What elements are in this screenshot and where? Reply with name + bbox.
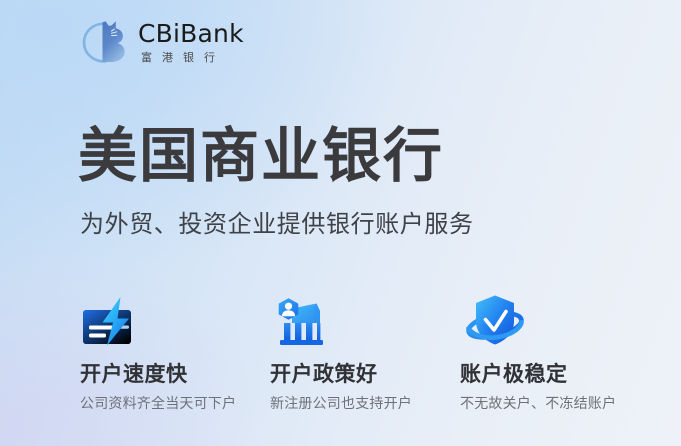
page-subtitle: 为外贸、投资企业提供银行账户服务 [80,213,474,237]
feature-title: 开户政策好 [270,364,460,385]
bank-person-icon [270,288,460,350]
brand-logo[interactable]: CBiBank 富港银行 [80,18,244,65]
feature-list: 开户速度快 公司资料齐全当天可下户 [80,288,650,410]
feature-item-stability: 账户极稳定 不无故关户、不冻结账户 [460,288,650,410]
brand-wordmark: CBiBank [138,21,244,46]
feature-title: 账户极稳定 [460,364,650,385]
feature-item-speed: 开户速度快 公司资料齐全当天可下户 [80,288,270,410]
feature-title: 开户速度快 [80,364,270,385]
promo-banner: CBiBank 富港银行 美国商业银行 为外贸、投资企业提供银行账户服务 [0,0,681,446]
feature-description: 新注册公司也支持开户 [270,396,460,410]
brand-chinese-name: 富港银行 [138,52,244,63]
shield-check-orbit-icon [460,288,650,350]
feature-item-policy: 开户政策好 新注册公司也支持开户 [270,288,460,410]
card-lightning-icon [80,288,270,350]
page-title: 美国商业银行 [78,127,444,186]
cbibank-cat-logo-icon [80,18,129,65]
brand-text: CBiBank 富港银行 [138,21,244,63]
feature-description: 不无故关户、不冻结账户 [460,396,650,410]
feature-description: 公司资料齐全当天可下户 [80,396,270,410]
